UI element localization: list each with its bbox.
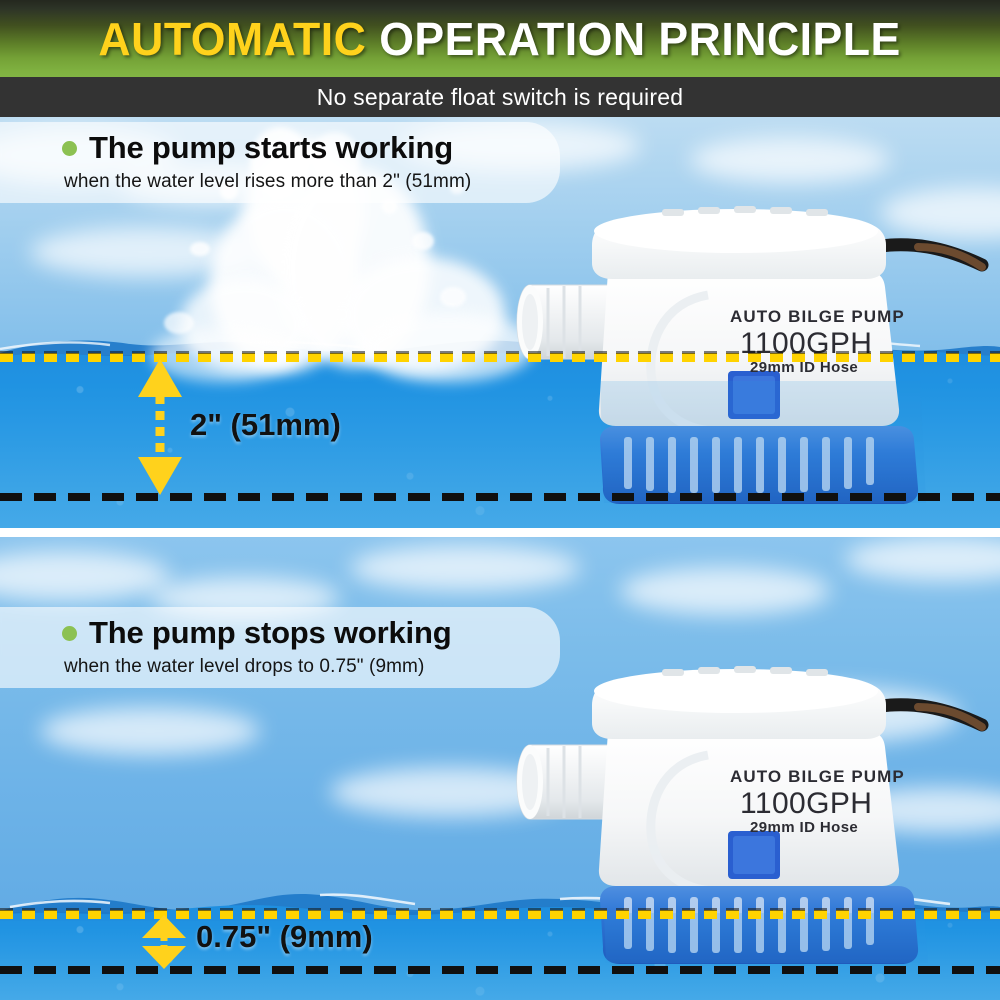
callout-pump-stops: The pump stops working when the water le… bbox=[0, 607, 560, 688]
callout-pump-starts: The pump starts working when the water l… bbox=[0, 122, 560, 203]
cloud-icon bbox=[350, 545, 580, 591]
pump-brand-label: AUTO BILGE PUMP bbox=[730, 767, 905, 787]
callout-subtext: when the water level drops to 0.75" (9mm… bbox=[0, 656, 560, 678]
pump-hose-label: 29mm ID Hose bbox=[750, 819, 858, 836]
measure-label-1: 2" (51mm) bbox=[190, 407, 341, 443]
infographic-page: AUTOMATIC OPERATION PRINCIPLE No separat… bbox=[0, 0, 1000, 1000]
callout-subtext: when the water level rises more than 2" … bbox=[0, 171, 560, 193]
title-accent-word: AUTOMATIC bbox=[99, 13, 367, 65]
measure-arrow-1 bbox=[134, 357, 186, 497]
bilge-pump-1: AUTO BILGE PUMP 1100GPH 29mm ID Hose bbox=[512, 185, 982, 505]
pump-brand-label: AUTO BILGE PUMP bbox=[730, 307, 905, 327]
bullet-icon bbox=[62, 626, 77, 641]
page-title: AUTOMATIC OPERATION PRINCIPLE bbox=[99, 12, 901, 66]
callout-heading: The pump starts working bbox=[89, 130, 453, 166]
cloud-icon bbox=[30, 227, 260, 277]
panel-pump-starts: AUTO BILGE PUMP 1100GPH 29mm ID Hose 2" … bbox=[0, 117, 1000, 528]
pump-model-label: 1100GPH bbox=[740, 787, 872, 821]
panel-divider bbox=[0, 528, 1000, 537]
title-bar: AUTOMATIC OPERATION PRINCIPLE bbox=[0, 0, 1000, 77]
panel-pump-stops: AUTO BILGE PUMP 1100GPH 29mm ID Hose 0.7… bbox=[0, 537, 1000, 1000]
callout-heading-row: The pump stops working bbox=[0, 615, 560, 651]
subtitle-bar: No separate float switch is required bbox=[0, 77, 1000, 117]
cloud-icon bbox=[620, 567, 830, 615]
subtitle-text: No separate float switch is required bbox=[317, 84, 683, 111]
callout-heading: The pump stops working bbox=[89, 615, 451, 651]
callout-heading-row: The pump starts working bbox=[0, 130, 560, 166]
title-main-words: OPERATION PRINCIPLE bbox=[367, 13, 901, 65]
bullet-icon bbox=[62, 141, 77, 156]
cloud-icon bbox=[690, 137, 890, 183]
measure-label-2: 0.75" (9mm) bbox=[196, 919, 373, 955]
cloud-icon bbox=[40, 707, 260, 755]
measure-arrow-2 bbox=[138, 914, 190, 970]
